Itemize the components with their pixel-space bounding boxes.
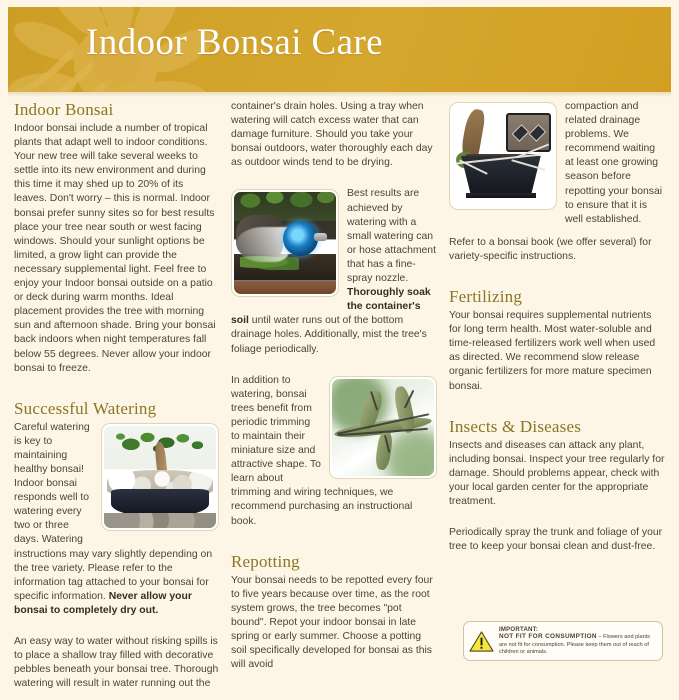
column-one: Indoor Bonsai Indoor bonsai include a nu…: [14, 100, 219, 700]
spacer: [231, 366, 437, 374]
page-header: Indoor Bonsai Care: [8, 7, 671, 92]
paragraph-repotting: Your bonsai needs to be repotted every f…: [231, 574, 437, 673]
drain-hole-art: [511, 124, 529, 142]
paragraph-insects-a: Insects and diseases can attack any plan…: [449, 439, 665, 509]
page-title: Indoor Bonsai Care: [86, 21, 383, 64]
spacer: [449, 403, 665, 417]
section-heading-fertilizing: Fertilizing: [449, 287, 665, 307]
section-heading-insects-diseases: Insects & Diseases: [449, 417, 665, 437]
paragraph-indoor-bonsai: Indoor bonsai include a number of tropic…: [14, 122, 219, 376]
content-columns: Indoor Bonsai Indoor bonsai include a nu…: [0, 100, 679, 675]
warning-triangle-icon: [469, 630, 494, 653]
column-three: compaction and related drainage problems…: [449, 100, 665, 563]
paragraph-refer-book: Refer to a bonsai book (we offer several…: [449, 236, 665, 264]
spacer: [231, 179, 437, 187]
paragraph-tray-pebbles: An easy way to water without risking spi…: [14, 635, 219, 691]
spacer: [14, 385, 219, 399]
section-heading-repotting: Repotting: [231, 552, 437, 572]
pebbles-art: [104, 513, 216, 527]
bonsai-care-page: Indoor Bonsai Care Indoor Bonsai Indoor …: [0, 0, 679, 679]
spacer: [14, 627, 219, 635]
spacer: [231, 538, 437, 552]
bonsai-in-gravel-pot-photo: [101, 423, 219, 531]
warning-line-1: IMPORTANT:: [499, 626, 657, 633]
best-results-text-cont: until water runs out of the bottom drain…: [231, 315, 427, 354]
blue-nozzle-art: [283, 221, 318, 256]
wired-bonsai-branch-photo: [329, 376, 437, 479]
warning-line-2: NOT FIT FOR CONSUMPTION: [499, 633, 597, 640]
water-spray-art: [236, 227, 289, 262]
pot-rim-art: [234, 283, 336, 294]
spray-nozzle-watering-photo: [231, 189, 339, 297]
section-heading-indoor-bonsai: Indoor Bonsai: [14, 100, 219, 120]
section-heading-successful-watering: Successful Watering: [14, 399, 219, 419]
bonsai-pot-drainage-diagram-photo: [449, 102, 557, 210]
spacer: [449, 518, 665, 526]
paragraph-insects-b: Periodically spray the trunk and foliage…: [449, 526, 665, 554]
header-shadow: [8, 92, 671, 97]
pot-feet-art: [466, 193, 535, 198]
column-two: container's drain holes. Using a tray wh…: [231, 100, 437, 681]
paragraph-drain-holes: container's drain holes. Using a tray wh…: [231, 100, 437, 170]
important-warning-box: IMPORTANT: NOT FIT FOR CONSUMPTION – Flo…: [463, 621, 663, 661]
spacer: [449, 273, 665, 287]
drain-hole-art: [529, 124, 547, 142]
best-results-text: Best results are achieved by watering wi…: [347, 188, 436, 284]
warning-text: IMPORTANT: NOT FIT FOR CONSUMPTION – Flo…: [499, 626, 657, 657]
paragraph-fertilizing: Your bonsai requires supplemental nutrie…: [449, 309, 665, 394]
